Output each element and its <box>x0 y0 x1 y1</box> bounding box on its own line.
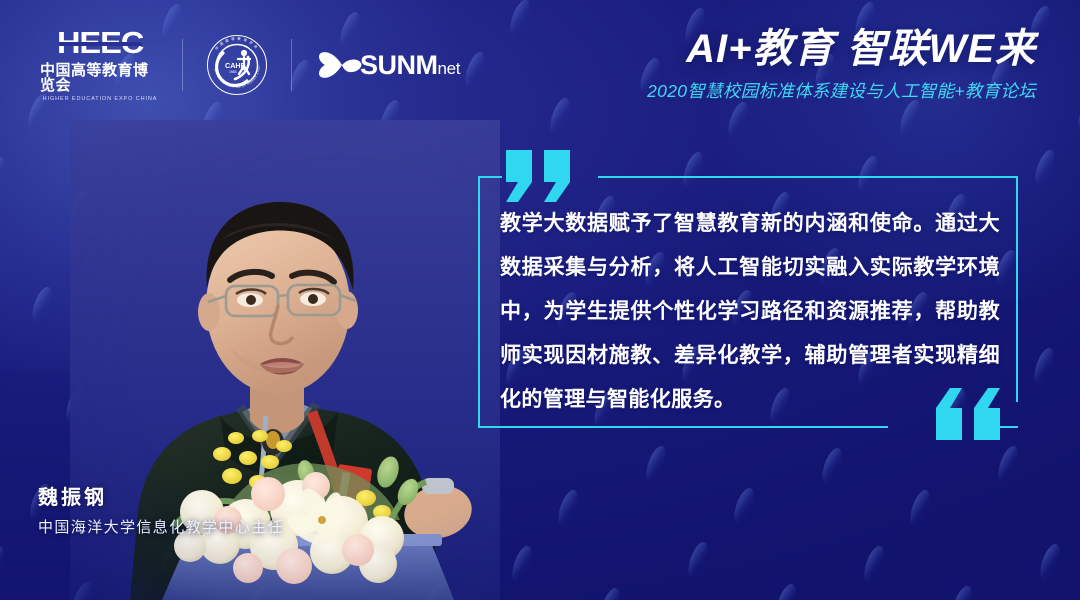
quote-border-top-left <box>478 176 502 178</box>
logo-group: HEEC 中国高等教育博览会 HIGHER EDUCATION EXPO CHI… <box>40 30 460 100</box>
speaker-role: 中国海洋大学信息化教学中心主任 <box>38 519 284 537</box>
heec-english-name: HIGHER EDUCATION EXPO CHINA <box>43 97 158 103</box>
cahe-logo: CAHE 1983 中国高等教育学会 CHINA ASSOCIATION OF … <box>205 33 269 97</box>
sunmnet-wordmark: SUNMnet <box>360 52 460 79</box>
quote-border-right <box>1016 176 1018 402</box>
event-title: AI+教育 智联WE来 <box>647 28 1036 71</box>
heec-wordmark: HEEC <box>57 27 143 58</box>
quote-open-mark <box>504 150 576 209</box>
quote-border-bottom <box>478 426 888 428</box>
event-title-block: AI+教育 智联WE来 2020智慧校园标准体系建设与人工智能+教育论坛 <box>647 28 1036 103</box>
speaker-caption: 魏振钢 中国海洋大学信息化教学中心主任 <box>38 486 284 537</box>
event-subtitle: 2020智慧校园标准体系建设与人工智能+教育论坛 <box>647 78 1036 103</box>
sunmnet-wordmark-bold: SUNM <box>360 50 438 80</box>
svg-text:1983: 1983 <box>229 70 237 74</box>
sunmnet-logo: SUNMnet <box>318 44 460 86</box>
quote-border-top-right <box>598 176 1018 178</box>
quote-text: 教学大数据赋予了智慧教育新的内涵和使命。通过大数据采集与分析，将人工智能切实融入… <box>500 202 1000 422</box>
poster-canvas: HEEC 中国高等教育博览会 HIGHER EDUCATION EXPO CHI… <box>0 0 1080 600</box>
heec-chinese-name: 中国高等教育博览会 <box>40 63 160 93</box>
sunmnet-wordmark-light: net <box>438 59 461 78</box>
speaker-name: 魏振钢 <box>38 486 284 510</box>
header-bar: HEEC 中国高等教育博览会 HIGHER EDUCATION EXPO CHI… <box>0 0 1080 130</box>
quote-border-left <box>478 176 480 428</box>
svg-text:CAHE: CAHE <box>225 61 246 70</box>
svg-text:中国高等教育学会: 中国高等教育学会 <box>214 36 261 51</box>
logo-divider-2 <box>291 39 292 91</box>
sunmnet-pinwheel-icon <box>318 44 364 86</box>
quote-card: 教学大数据赋予了智慧教育新的内涵和使命。通过大数据采集与分析，将人工智能切实融入… <box>478 150 1026 450</box>
logo-divider-1 <box>182 39 183 91</box>
heec-logo: HEEC 中国高等教育博览会 HIGHER EDUCATION EXPO CHI… <box>40 27 160 103</box>
